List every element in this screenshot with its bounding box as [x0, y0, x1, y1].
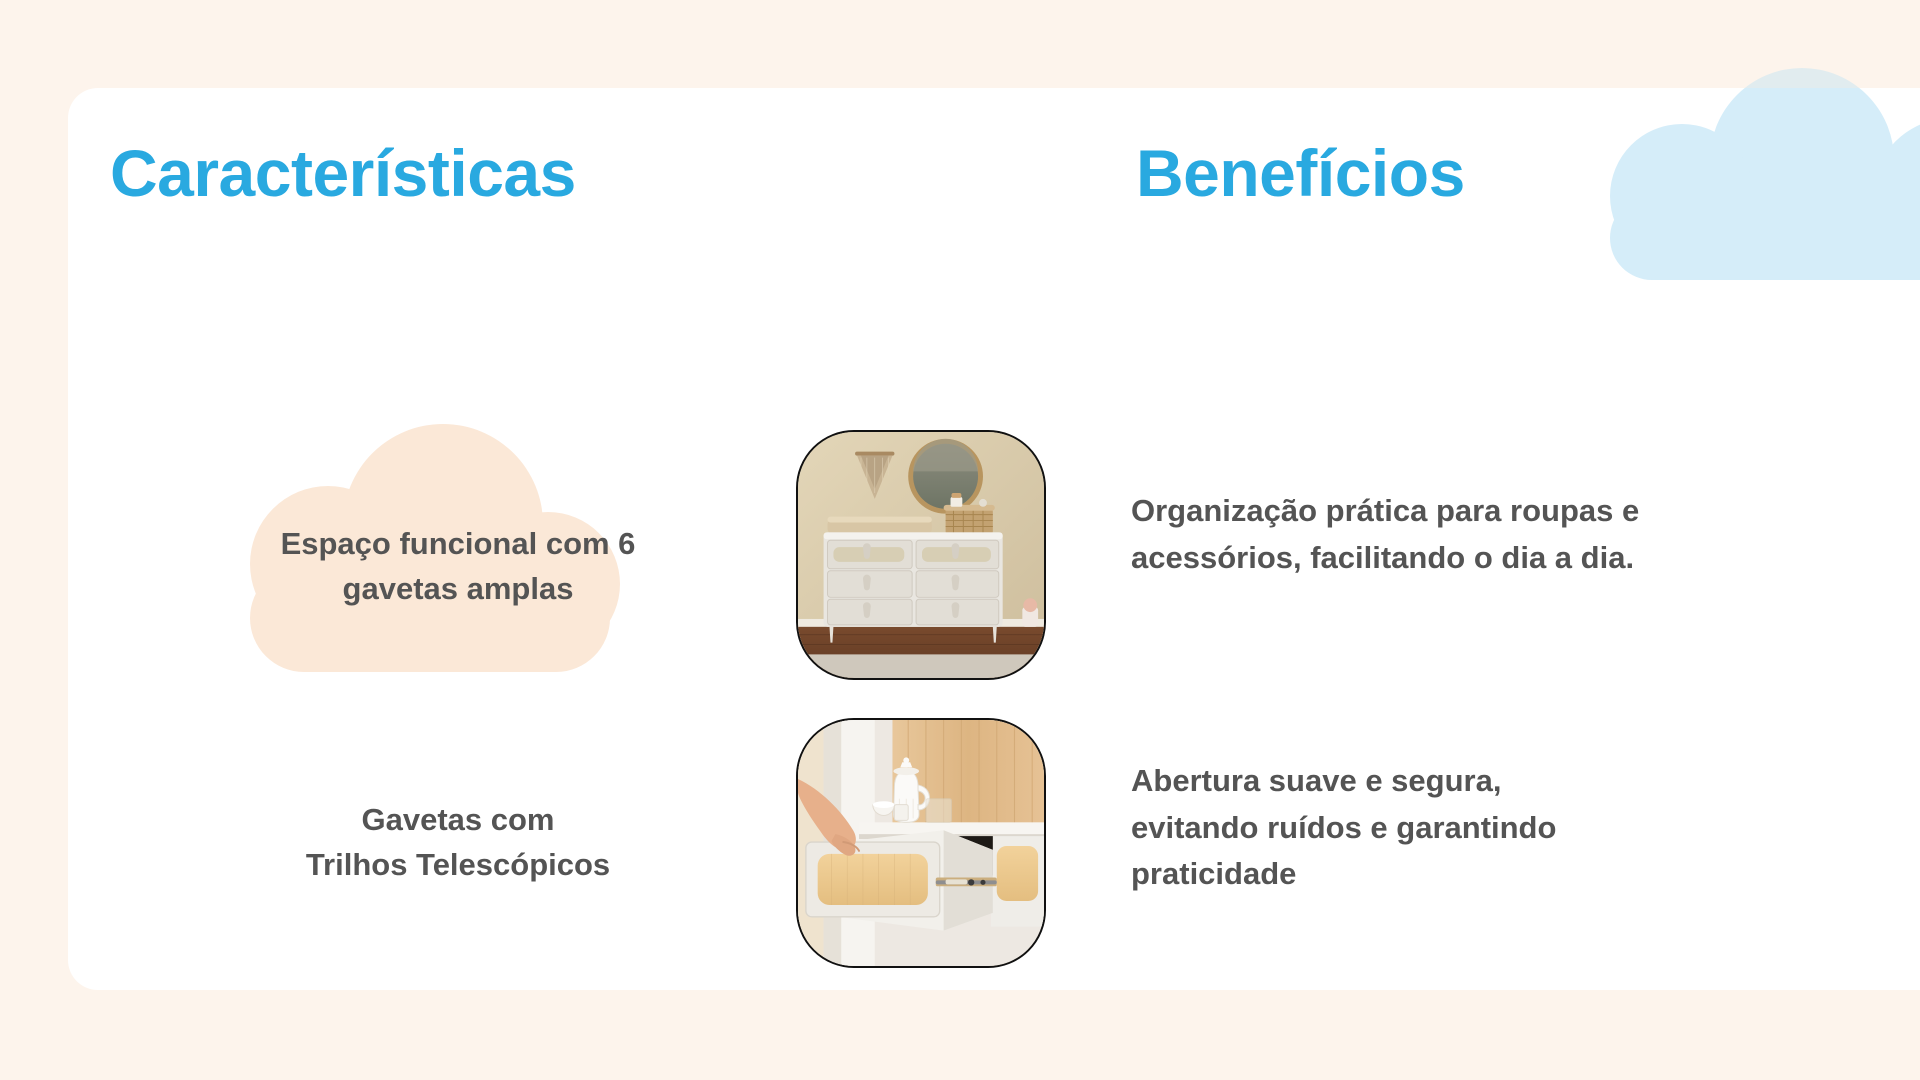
slide-card: Características Benefícios Espaço funcio… — [68, 88, 1920, 990]
feature-label: Gavetas com Trilhos Telescópicos — [178, 798, 738, 888]
telescopic-slide-drawer-photo — [796, 718, 1046, 968]
benefit-label-line: Abertura suave e segura, — [1131, 763, 1501, 798]
benefit-label-line: Organização prática para roupas e — [1131, 493, 1639, 528]
benefit-label: Organização prática para roupas e acessó… — [1131, 488, 1831, 581]
feature-label-line: Gavetas com — [362, 802, 555, 837]
dresser-six-drawers-photo — [796, 430, 1046, 680]
column-heading-beneficios: Benefícios — [1136, 135, 1465, 211]
benefit-label-line: praticidade — [1131, 856, 1296, 891]
feature-label: Espaço funcional com 6 gavetas amplas — [178, 522, 738, 612]
benefit-label-line: evitando ruídos e garantindo — [1131, 810, 1556, 845]
feature-label-line: Espaço funcional com 6 — [281, 526, 636, 561]
feature-benefit-row: Espaço funcional com 6 gavetas amplas — [68, 418, 1920, 688]
benefit-label: Abertura suave e segura, evitando ruídos… — [1131, 758, 1831, 898]
benefit-label-line: acessórios, facilitando o dia a dia. — [1131, 540, 1634, 575]
feature-benefit-row: Gavetas com Trilhos Telescópicos — [68, 708, 1920, 978]
feature-label-line: gavetas amplas — [343, 571, 574, 606]
column-heading-caracteristicas: Características — [110, 135, 576, 211]
feature-label-line: Trilhos Telescópicos — [306, 847, 610, 882]
